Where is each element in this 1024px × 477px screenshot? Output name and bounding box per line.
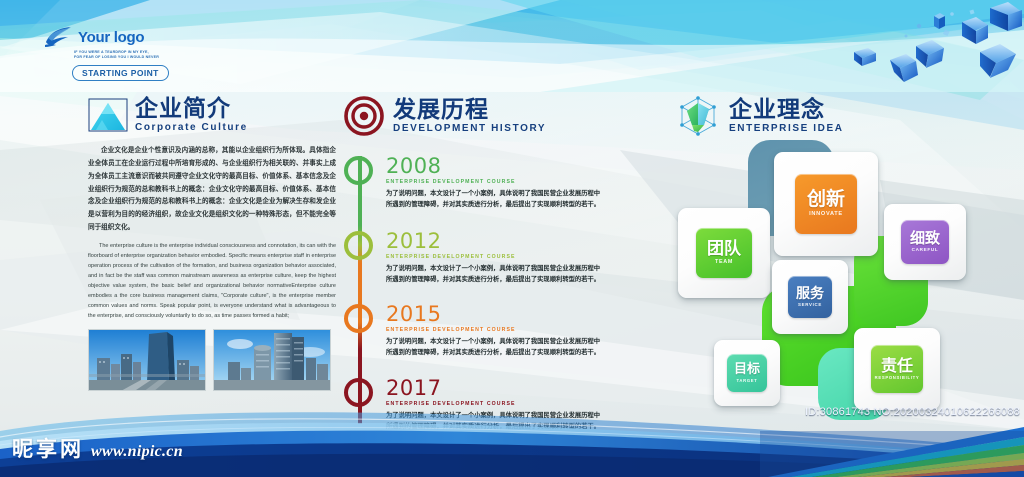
idea-card-team[interactable]: 团队 TEAM (678, 208, 770, 298)
timeline-year: 2017 (386, 378, 664, 399)
idea-card-careful[interactable]: 细致 CAREFUL (884, 204, 966, 280)
idea-card-innovate[interactable]: 创新 INNOVATE (774, 152, 878, 256)
watermark-site-name: 昵享网 (12, 433, 84, 463)
watermark-url: www.nipic.cn (91, 443, 183, 461)
idea-card-label-en: RESPONSIBILITY (875, 376, 920, 380)
city-skyline-photo-1 (88, 329, 206, 391)
timeline-item[interactable]: 2008 ENTERPRISE DEVELOPMENT COURSE 为了说明问… (344, 156, 664, 211)
timeline-description-line-1: 为了说明问题，本文设计了一个小案例，具体说明了我国民营企业发展历程中 (386, 336, 664, 348)
starting-point-badge[interactable]: STARTING POINT (72, 65, 169, 81)
corporate-culture-photo-row (88, 329, 336, 391)
polygon-gem-network-icon (676, 95, 720, 137)
timeline-description-line-2: 所遇到的管理障碍，并对其实质进行分析，最后提出了实现顺利转型的若干。 (386, 274, 664, 286)
triangle-mountain-icon (88, 98, 128, 132)
idea-card-label-cn: 责任 (881, 358, 913, 374)
corporate-culture-section: 企业简介 Corporate Culture 企业文化是企业个性意识及内涵的总称… (88, 92, 336, 391)
timeline-year: 2015 (386, 304, 664, 325)
idea-card-label-en: SERVICE (798, 303, 822, 307)
timeline-item[interactable]: 2012 ENTERPRISE DEVELOPMENT COURSE 为了说明问… (344, 231, 664, 286)
logo-tagline-line-2: FOR FEAR OF LOSING YOU I WOULD NEVER (74, 55, 214, 60)
development-history-title-cn: 发展历程 (393, 98, 546, 122)
corporate-culture-header: 企业简介 Corporate Culture (88, 92, 336, 138)
idea-chip-responsibility: 责任 RESPONSIBILITY (871, 345, 923, 393)
timeline-node-icon (344, 304, 373, 333)
timeline-year: 2012 (386, 231, 664, 252)
target-rings-icon (344, 96, 384, 136)
logo-tagline: IF YOU WERE A TEARDROP IN MY EYE, FOR FE… (74, 50, 214, 61)
idea-chip-target: 目标 TARGET (727, 354, 767, 392)
wing-swoosh-icon (44, 26, 74, 48)
idea-card-label-cn: 细致 (910, 231, 940, 246)
timeline-description-line-2: 所遇到的管理障碍，并对其实质进行分析，最后提出了实现顺利转型的若干。 (386, 347, 664, 359)
timeline-subtitle: ENTERPRISE DEVELOPMENT COURSE (386, 179, 664, 185)
image-id-text: ID:30861743 NO:20200324010622266088 (805, 406, 1020, 418)
enterprise-idea-title-en: ENTERPRISE IDEA (729, 123, 844, 134)
timeline-description-line-1: 为了说明问题，本文设计了一个小案例，具体说明了我国民营企业发展历程中 (386, 188, 664, 200)
logo-text: Your logo (78, 30, 144, 45)
timeline-subtitle: ENTERPRISE DEVELOPMENT COURSE (386, 327, 664, 333)
idea-card-label-cn: 目标 (734, 363, 760, 376)
watermark: 昵享网 www.nipic.cn (12, 433, 183, 463)
timeline-description: 为了说明问题，本文设计了一个小案例，具体说明了我国民营企业发展历程中 所遇到的管… (386, 263, 664, 286)
city-skyline-photo-2 (213, 329, 331, 391)
development-history-title-en: DEVELOPMENT HISTORY (393, 123, 546, 134)
timeline-item[interactable]: 2015 ENTERPRISE DEVELOPMENT COURSE 为了说明问… (344, 304, 664, 359)
idea-card-label-cn: 服务 (796, 287, 824, 301)
corporate-culture-body-cn: 企业文化是企业个性意识及内涵的总称，其能以企业组织行为所体现。具体指企业全体员工… (88, 144, 336, 234)
enterprise-idea-header: 企业理念 ENTERPRISE IDEA (676, 92, 996, 140)
idea-card-label-en: TARGET (736, 379, 757, 383)
idea-chip-innovate: 创新 INNOVATE (795, 174, 857, 234)
idea-card-label-cn: 团队 (707, 241, 741, 258)
idea-card-label-en: TEAM (715, 260, 733, 265)
timeline-description-line-2: 所遇到的管理障碍，并对其实质进行分析，最后提出了实现顺利转型的若干。 (386, 199, 664, 211)
timeline-node-icon (344, 156, 373, 185)
corporate-culture-title-en: Corporate Culture (135, 122, 248, 133)
idea-chip-team: 团队 TEAM (696, 228, 752, 278)
poster-canvas: Your logo IF YOU WERE A TEARDROP IN MY E… (0, 0, 1024, 477)
floating-3d-blocks-icon (794, 0, 1024, 92)
top-banner: Your logo IF YOU WERE A TEARDROP IN MY E… (0, 0, 1024, 92)
enterprise-idea-section: 企业理念 ENTERPRISE IDEA (676, 92, 996, 140)
bottom-wave-band: 昵享网 www.nipic.cn ID:30861743 NO:20200324… (0, 397, 1024, 477)
enterprise-idea-card-cluster: 团队 TEAM 创新 INNOVATE 细致 CAREFUL 服务 SERVIC… (676, 140, 1016, 410)
idea-card-label-en: CAREFUL (912, 248, 939, 253)
timeline-description: 为了说明问题，本文设计了一个小案例，具体说明了我国民营企业发展历程中 所遇到的管… (386, 188, 664, 211)
idea-card-label-en: INNOVATE (809, 212, 843, 218)
idea-card-label-cn: 创新 (807, 190, 845, 209)
development-history-header: 发展历程 DEVELOPMENT HISTORY (344, 92, 664, 140)
corporate-culture-title-cn: 企业简介 (135, 97, 248, 121)
timeline-subtitle: ENTERPRISE DEVELOPMENT COURSE (386, 254, 664, 260)
idea-chip-service: 服务 SERVICE (788, 276, 832, 318)
idea-chip-careful: 细致 CAREFUL (901, 220, 949, 264)
idea-card-service[interactable]: 服务 SERVICE (772, 260, 848, 334)
timeline-description-line-1: 为了说明问题，本文设计了一个小案例，具体说明了我国民营企业发展历程中 (386, 263, 664, 275)
timeline-description: 为了说明问题，本文设计了一个小案例，具体说明了我国民营企业发展历程中 所遇到的管… (386, 336, 664, 359)
timeline-year: 2008 (386, 156, 664, 177)
corporate-culture-body-en: The enterprise culture is the enterprise… (88, 241, 336, 321)
enterprise-idea-title-cn: 企业理念 (729, 98, 844, 122)
logo-block[interactable]: Your logo IF YOU WERE A TEARDROP IN MY E… (44, 26, 214, 72)
timeline-node-icon (344, 231, 373, 260)
